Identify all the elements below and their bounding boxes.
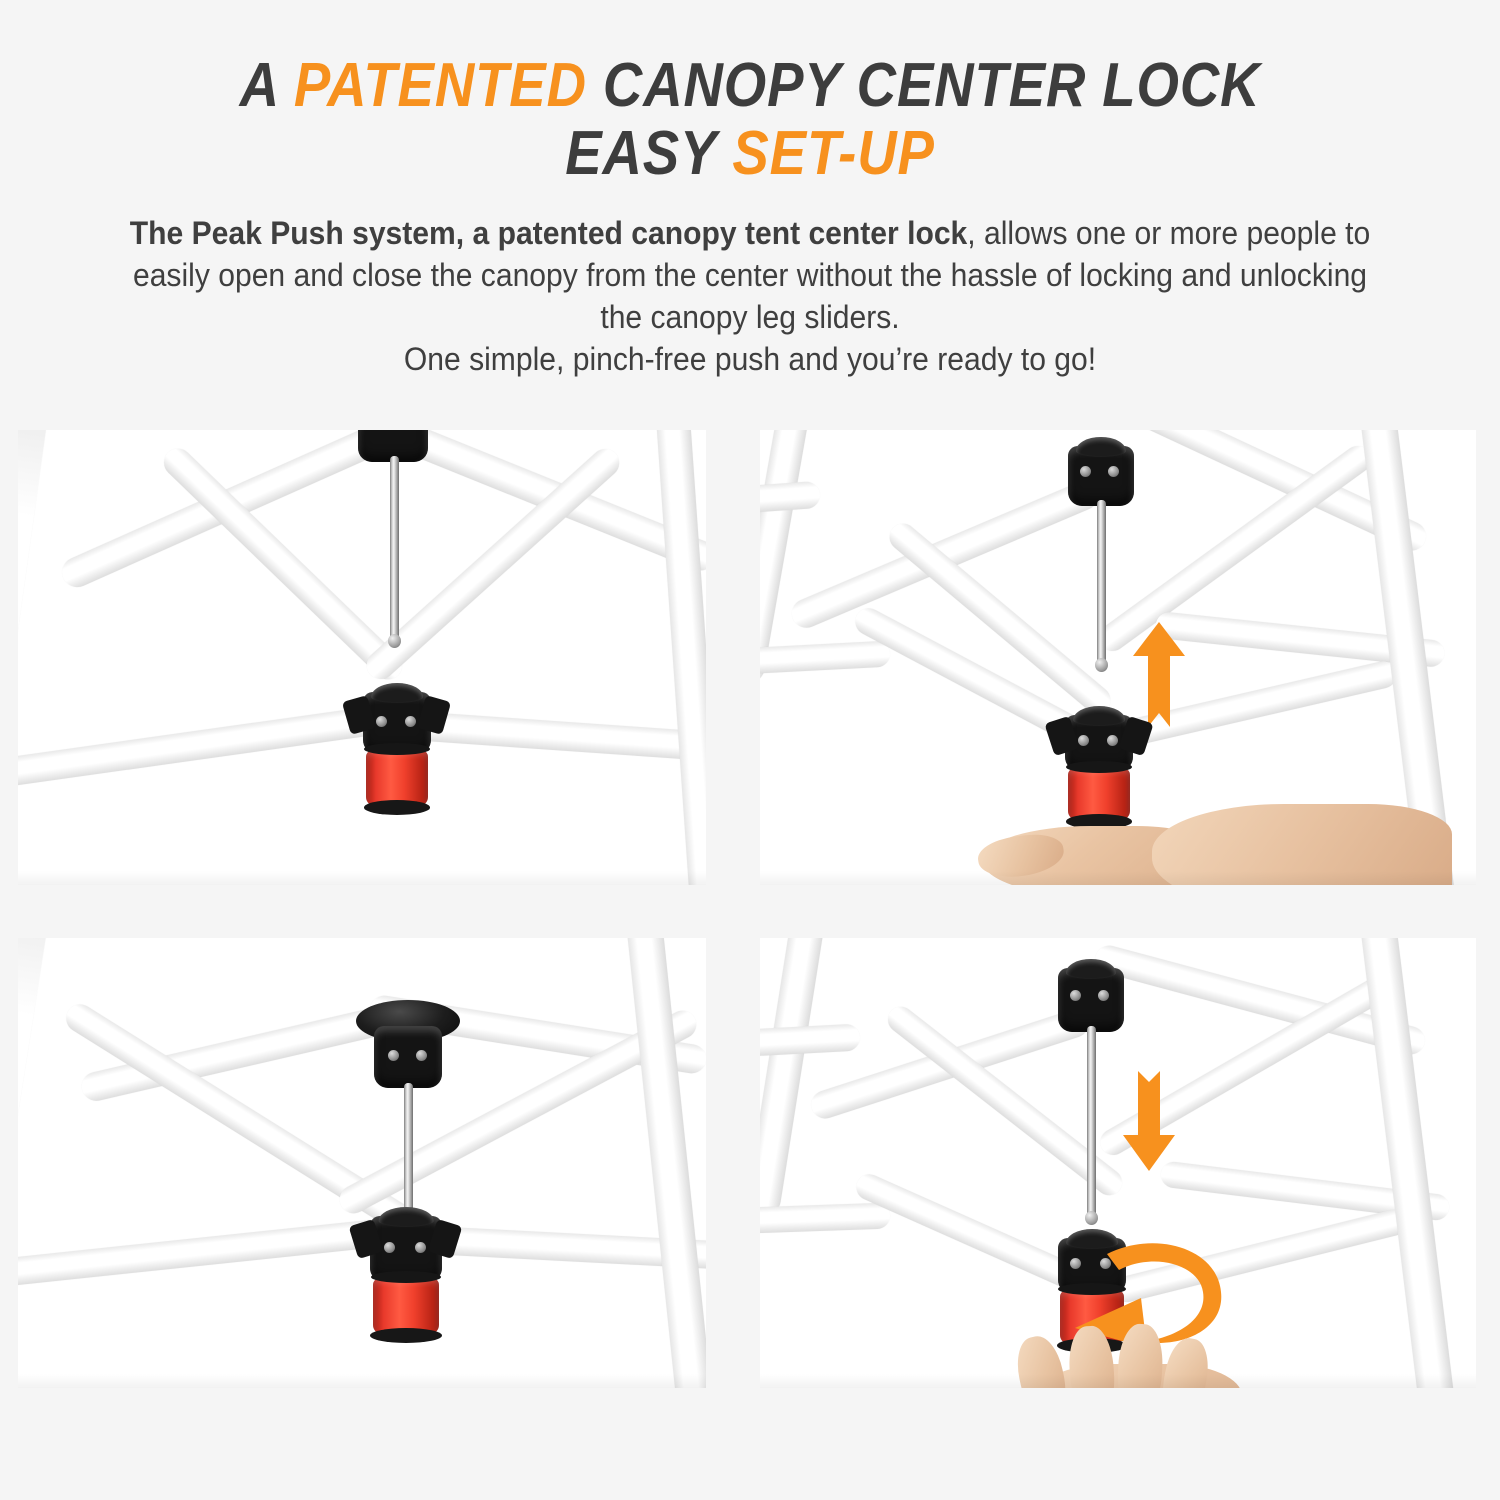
hub-screw-icon bbox=[384, 1242, 395, 1253]
hub-screw-icon bbox=[1108, 466, 1119, 477]
page-title: A PATENTED CANOPY CENTER LOCK EASY SET-U… bbox=[90, 0, 1410, 188]
truss-pole-icon bbox=[760, 1024, 861, 1060]
hub-screw-icon bbox=[388, 1050, 399, 1061]
hub-screw-icon bbox=[1080, 466, 1091, 477]
panel-collapsed-closed[interactable] bbox=[18, 430, 706, 885]
title-line-1: A PATENTED CANOPY CENTER LOCK bbox=[240, 51, 1261, 120]
arrow-down-icon bbox=[1122, 1071, 1176, 1171]
hub-cap-icon bbox=[379, 1207, 434, 1227]
panel-twist-release[interactable] bbox=[760, 938, 1476, 1388]
hub-screw-icon bbox=[416, 1050, 427, 1061]
rod-tip-icon bbox=[1095, 658, 1108, 672]
rod-tip-icon bbox=[388, 634, 401, 648]
hand-open-palm-icon bbox=[982, 802, 1442, 885]
panel-push-up[interactable] bbox=[760, 430, 1476, 885]
subtitle-bold-lead: The Peak Push system, a patented canopy … bbox=[130, 215, 968, 251]
push-rod-icon bbox=[1097, 500, 1106, 665]
title-word-a: A bbox=[240, 51, 294, 120]
hub-screw-icon bbox=[376, 716, 387, 727]
hub-screw-icon bbox=[1070, 990, 1081, 1001]
title-word-set-up: SET-UP bbox=[732, 119, 934, 188]
red-center-lock-icon bbox=[373, 1278, 439, 1334]
canopy-leg-pole-icon bbox=[626, 938, 706, 1388]
hub-screw-icon bbox=[405, 716, 416, 727]
hand-pinch-icon bbox=[998, 1330, 1258, 1388]
canopy-leg-pole-icon bbox=[18, 430, 51, 885]
canopy-leg-pole-icon bbox=[18, 938, 53, 1388]
hub-cap-icon bbox=[1076, 437, 1126, 457]
peak-anchor-hub-icon bbox=[1068, 446, 1134, 506]
hub-screw-icon bbox=[1078, 735, 1089, 746]
subtitle-closing-line: One simple, pinch-free push and you’re r… bbox=[404, 341, 1096, 377]
truss-pole-icon bbox=[760, 1203, 890, 1236]
push-rod-icon bbox=[390, 456, 399, 641]
panel-grid bbox=[0, 430, 1500, 1390]
hub-screw-icon bbox=[1098, 990, 1109, 1001]
wrist-shape bbox=[1152, 804, 1452, 885]
panel-locked-open[interactable] bbox=[18, 938, 706, 1388]
canopy-leg-pole-icon bbox=[655, 430, 706, 885]
hub-cap-icon bbox=[1073, 706, 1125, 726]
hub-screw-icon bbox=[1107, 735, 1118, 746]
arrow-up-icon bbox=[1132, 622, 1186, 727]
red-center-lock-icon bbox=[366, 750, 428, 806]
push-rod-icon bbox=[1087, 1026, 1096, 1218]
title-word-easy: EASY bbox=[565, 119, 732, 188]
canopy-leg-pole-icon bbox=[760, 938, 830, 1219]
hub-screw-icon bbox=[415, 1242, 426, 1253]
infographic-page: A PATENTED CANOPY CENTER LOCK EASY SET-U… bbox=[0, 0, 1500, 1500]
finger-shape bbox=[1116, 1323, 1165, 1388]
canopy-leg-pole-icon bbox=[1357, 938, 1459, 1388]
title-word-canopy-center-lock: CANOPY CENTER LOCK bbox=[587, 51, 1261, 120]
finger-shape bbox=[1067, 1325, 1118, 1388]
title-word-patented: PATENTED bbox=[294, 51, 587, 120]
peak-anchor-hub-icon bbox=[1058, 968, 1124, 1032]
truss-pole-icon bbox=[760, 641, 891, 676]
finger-shape bbox=[1157, 1335, 1213, 1388]
title-line-2: EASY SET-UP bbox=[90, 120, 1410, 188]
hub-cap-icon bbox=[371, 683, 423, 703]
rod-tip-icon bbox=[1085, 1211, 1098, 1225]
page-subtitle: The Peak Push system, a patented canopy … bbox=[125, 212, 1375, 380]
header-section: A PATENTED CANOPY CENTER LOCK EASY SET-U… bbox=[0, 0, 1500, 400]
hub-wing-icon bbox=[349, 1219, 384, 1259]
peak-anchor-hub-icon bbox=[374, 1026, 442, 1088]
finger-shape bbox=[1012, 1332, 1073, 1388]
